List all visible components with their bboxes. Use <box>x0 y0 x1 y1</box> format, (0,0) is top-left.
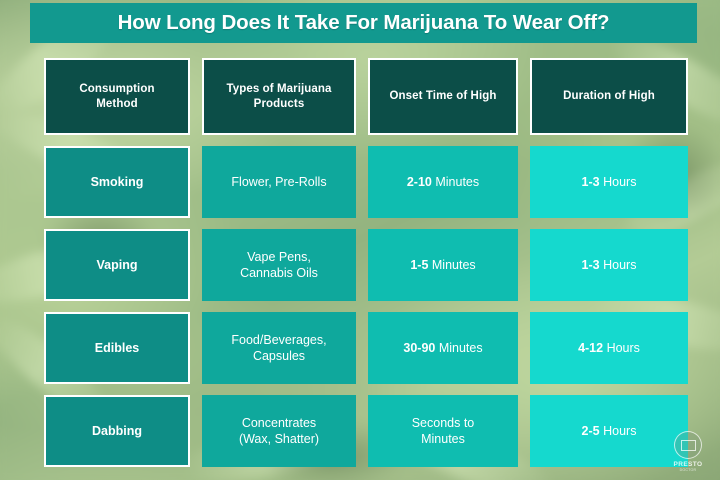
method-label: Edibles <box>95 340 139 356</box>
table-row: Edibles Food/Beverages, Capsules 30-90 M… <box>44 312 688 384</box>
column-header-consumption-method: Consumption Method <box>44 58 190 135</box>
logo-mark-icon <box>681 440 696 451</box>
product-line: Concentrates <box>242 415 316 431</box>
onset-unit-line2: Minutes <box>421 431 465 447</box>
method-label: Smoking <box>91 174 144 190</box>
cell-method: Smoking <box>44 146 190 218</box>
comparison-table: Consumption Method Types of Marijuana Pr… <box>44 58 688 470</box>
method-label: Vaping <box>97 257 138 273</box>
cell-duration: 2-5 Hours <box>530 395 688 467</box>
logo-wordmark: PRESTO <box>666 461 710 468</box>
column-header-onset-time: Onset Time of High <box>368 58 518 135</box>
duration-unit: Hours <box>603 175 636 189</box>
cell-onset: 30-90 Minutes <box>368 312 518 384</box>
header-line: Method <box>96 97 137 112</box>
page-title: How Long Does It Take For Marijuana To W… <box>118 11 610 35</box>
onset-unit: Minutes <box>439 341 483 355</box>
product-line: Capsules <box>253 348 305 364</box>
cell-method: Vaping <box>44 229 190 301</box>
brand-logo: PRESTO DOCTOR <box>666 431 710 472</box>
duration-value: 4-12 <box>578 341 603 355</box>
cell-method: Dabbing <box>44 395 190 467</box>
cell-duration: 1-3 Hours <box>530 146 688 218</box>
duration-text: 1-3 Hours <box>582 174 637 190</box>
onset-unit: Minutes <box>432 258 476 272</box>
cell-duration: 4-12 Hours <box>530 312 688 384</box>
cell-products: Flower, Pre-Rolls <box>202 146 356 218</box>
header-line: Consumption <box>79 82 154 97</box>
header-line: Duration of High <box>563 89 655 104</box>
product-line: Flower, Pre-Rolls <box>231 174 326 190</box>
table-row: Smoking Flower, Pre-Rolls 2-10 Minutes 1… <box>44 146 688 218</box>
duration-value: 2-5 <box>582 424 600 438</box>
product-line: Food/Beverages, <box>231 332 326 348</box>
onset-text: 2-10 Minutes <box>407 174 479 190</box>
method-label: Dabbing <box>92 423 142 439</box>
cell-method: Edibles <box>44 312 190 384</box>
logo-tagline: DOCTOR <box>666 468 710 472</box>
table-row: Vaping Vape Pens, Cannabis Oils 1-5 Minu… <box>44 229 688 301</box>
column-header-duration: Duration of High <box>530 58 688 135</box>
cell-onset: 1-5 Minutes <box>368 229 518 301</box>
title-banner: How Long Does It Take For Marijuana To W… <box>30 3 697 43</box>
onset-unit: Seconds to <box>412 415 475 431</box>
onset-value: 30-90 <box>403 341 435 355</box>
duration-unit: Hours <box>607 341 640 355</box>
product-line: (Wax, Shatter) <box>239 431 319 447</box>
product-line: Cannabis Oils <box>240 265 318 281</box>
duration-text: 4-12 Hours <box>578 340 640 356</box>
cell-onset: Seconds to Minutes <box>368 395 518 467</box>
header-line: Onset Time of High <box>389 89 496 104</box>
table-header-row: Consumption Method Types of Marijuana Pr… <box>44 58 688 135</box>
onset-unit: Minutes <box>435 175 479 189</box>
header-line: Types of Marijuana <box>226 82 331 97</box>
duration-text: 2-5 Hours <box>582 423 637 439</box>
duration-unit: Hours <box>603 258 636 272</box>
column-header-product-types: Types of Marijuana Products <box>202 58 356 135</box>
onset-value: 1-5 <box>410 258 428 272</box>
duration-value: 1-3 <box>582 258 600 272</box>
duration-value: 1-3 <box>582 175 600 189</box>
onset-text: 30-90 Minutes <box>403 340 482 356</box>
table-row: Dabbing Concentrates (Wax, Shatter) Seco… <box>44 395 688 467</box>
cell-onset: 2-10 Minutes <box>368 146 518 218</box>
product-line: Vape Pens, <box>247 249 311 265</box>
logo-badge-icon <box>674 431 702 459</box>
cell-products: Concentrates (Wax, Shatter) <box>202 395 356 467</box>
onset-text: 1-5 Minutes <box>410 257 475 273</box>
cell-products: Food/Beverages, Capsules <box>202 312 356 384</box>
cell-products: Vape Pens, Cannabis Oils <box>202 229 356 301</box>
cell-duration: 1-3 Hours <box>530 229 688 301</box>
duration-text: 1-3 Hours <box>582 257 637 273</box>
duration-unit: Hours <box>603 424 636 438</box>
onset-value: 2-10 <box>407 175 432 189</box>
header-line: Products <box>254 97 305 112</box>
